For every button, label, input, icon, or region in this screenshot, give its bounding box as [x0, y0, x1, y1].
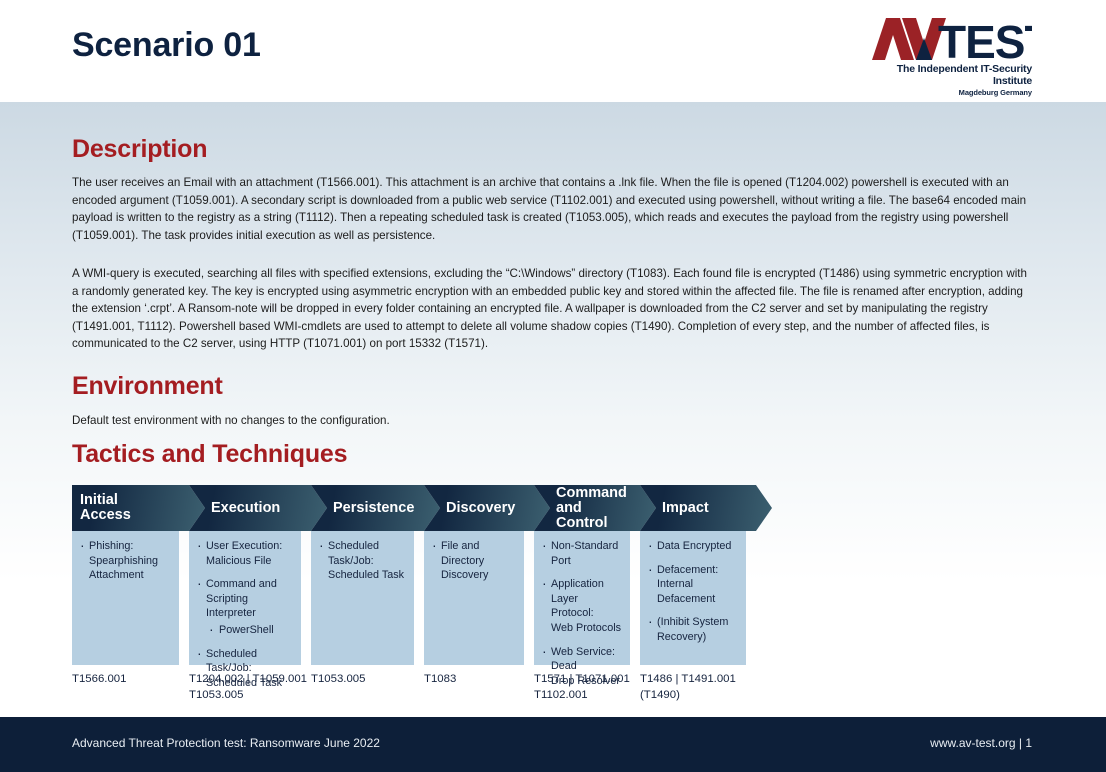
description-heading: Description: [72, 135, 207, 164]
tactic-header-label: Persistence: [333, 501, 414, 516]
technique-list: User Execution:Malicious FileCommand and…: [195, 539, 293, 690]
tactic-header-label: Execution: [211, 501, 280, 516]
logo-location: Magdeburg Germany: [872, 88, 1032, 97]
tactic-header-command-and-control: Command andControl: [534, 485, 656, 531]
technique-list: Data EncryptedDefacement:InternalDefacem…: [646, 539, 738, 645]
tactics-ids-row: T1566.001T1204.002 | T1059.001 T1053.005…: [72, 672, 796, 714]
footer-test-name: Advanced Threat Protection test: Ransomw…: [72, 736, 380, 750]
content-area: Description The user receives an Email w…: [0, 102, 1106, 717]
tactic-cell: User Execution:Malicious FileCommand and…: [189, 531, 301, 665]
document-page: Scenario 01 TEST The Independent IT-Secu…: [0, 0, 1106, 772]
technique-list: Phishing:SpearphishingAttachment: [78, 539, 171, 583]
technique-item: Phishing:SpearphishingAttachment: [78, 539, 171, 583]
tactic-header-label: InitialAccess: [80, 493, 131, 523]
tactic-cell: Phishing:SpearphishingAttachment: [72, 531, 179, 665]
technique-ids: T1083: [424, 672, 542, 688]
tactics-body-row: Phishing:SpearphishingAttachmentUser Exe…: [72, 531, 796, 665]
technique-item: (Inhibit SystemRecovery): [646, 615, 738, 644]
technique-item: File and DirectoryDiscovery: [430, 539, 516, 583]
tactic-header-impact: Impact: [640, 485, 772, 531]
tactics-heading: Tactics and Techniques: [72, 440, 347, 469]
tactics-table: InitialAccessExecutionPersistenceDiscove…: [72, 485, 796, 714]
tactic-cell: Non-Standard PortApplication LayerProtoc…: [534, 531, 630, 665]
tactic-header-label: Impact: [662, 501, 709, 516]
tactic-cell: Data EncryptedDefacement:InternalDefacem…: [640, 531, 746, 665]
logo-tagline: The Independent IT-Security Institute: [872, 63, 1032, 87]
technique-ids: T1571 | T1071.001 T1102.001: [534, 672, 648, 703]
technique-item: Non-Standard Port: [540, 539, 622, 568]
environment-text: Default test environment with no changes…: [72, 412, 772, 430]
logo-mark: TEST: [872, 18, 1032, 62]
technique-item: Application LayerProtocol:Web Protocols: [540, 577, 622, 635]
page-footer: Advanced Threat Protection test: Ransomw…: [0, 717, 1106, 772]
description-paragraph-2: A WMI-query is executed, searching all f…: [72, 265, 1034, 353]
technique-list: File and DirectoryDiscovery: [430, 539, 516, 583]
technique-item: User Execution:Malicious File: [195, 539, 293, 568]
page-header: Scenario 01 TEST The Independent IT-Secu…: [0, 0, 1106, 102]
tactic-header-execution: Execution: [189, 485, 327, 531]
tactic-header-initial-access: InitialAccess: [72, 485, 205, 531]
technique-ids: T1566.001: [72, 672, 197, 688]
logo-wordmark-icon: TEST: [872, 18, 1032, 62]
footer-url-page: www.av-test.org | 1: [930, 736, 1032, 750]
tactics-header-row: InitialAccessExecutionPersistenceDiscove…: [72, 485, 796, 531]
technique-subitem: PowerShell: [195, 623, 293, 638]
technique-item: Scheduled Task/Job:Scheduled Task: [317, 539, 406, 583]
environment-heading: Environment: [72, 372, 223, 401]
technique-list: Non-Standard PortApplication LayerProtoc…: [540, 539, 622, 688]
technique-item: Defacement:InternalDefacement: [646, 563, 738, 607]
tactic-header-label: Discovery: [446, 501, 515, 516]
tactic-cell: File and DirectoryDiscovery: [424, 531, 524, 665]
tactic-cell: Scheduled Task/Job:Scheduled Task: [311, 531, 414, 665]
svg-text:TEST: TEST: [938, 18, 1032, 62]
tactic-header-discovery: Discovery: [424, 485, 550, 531]
description-paragraph-1: The user receives an Email with an attac…: [72, 174, 1032, 244]
technique-ids: T1053.005: [311, 672, 432, 688]
technique-item: Data Encrypted: [646, 539, 738, 554]
technique-item: Command andScripting Interpreter: [195, 577, 293, 621]
page-title: Scenario 01: [72, 26, 261, 65]
technique-list: Scheduled Task/Job:Scheduled Task: [317, 539, 406, 583]
technique-ids: T1204.002 | T1059.001 T1053.005: [189, 672, 319, 703]
technique-ids: T1486 | T1491.001 (T1490): [640, 672, 764, 703]
av-test-logo: TEST The Independent IT-Security Institu…: [872, 18, 1032, 84]
tactic-header-label: Command andControl: [556, 486, 650, 531]
tactic-header-persistence: Persistence: [311, 485, 440, 531]
